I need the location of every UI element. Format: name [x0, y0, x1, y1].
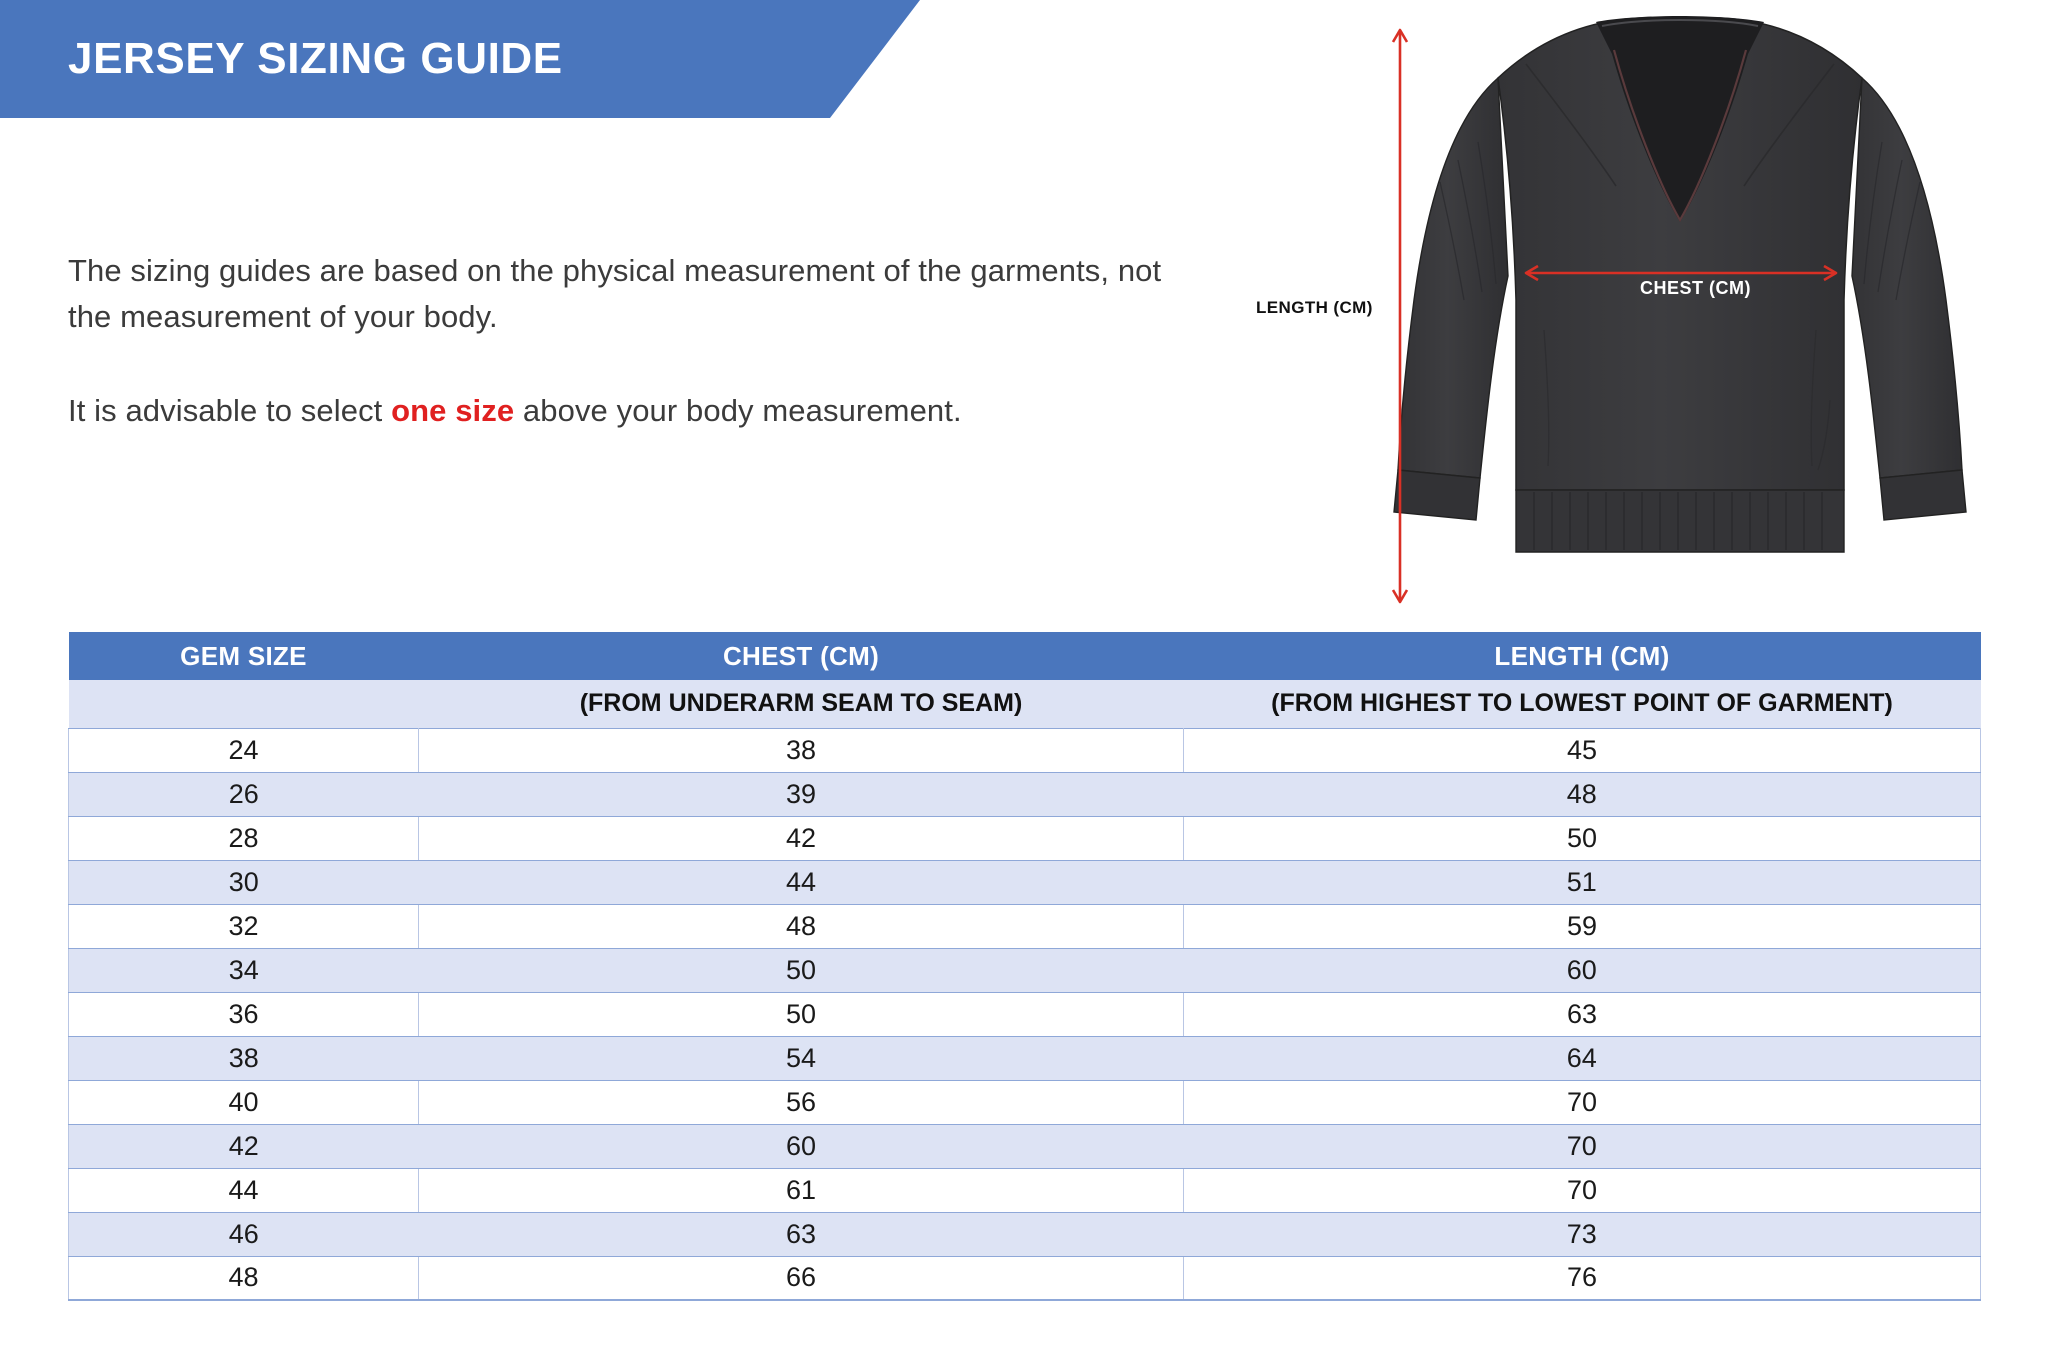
cell-chest: 50	[419, 992, 1184, 1036]
cell-chest: 50	[419, 948, 1184, 992]
cell-chest: 54	[419, 1036, 1184, 1080]
table-row: 34 50 60	[69, 948, 1981, 992]
cell-length: 73	[1184, 1212, 1981, 1256]
cell-size: 34	[69, 948, 419, 992]
page-title: JERSEY SIZING GUIDE	[68, 34, 563, 84]
table-row: 46 63 73	[69, 1212, 1981, 1256]
cell-size: 30	[69, 860, 419, 904]
column-header-gem-size: GEM SIZE	[69, 632, 419, 680]
table-body: (FROM UNDERARM SEAM TO SEAM) (FROM HIGHE…	[69, 680, 1981, 1300]
table-row: 24 38 45	[69, 728, 1981, 772]
cell-size: 26	[69, 772, 419, 816]
cell-length: 70	[1184, 1168, 1981, 1212]
intro-paragraph-2-after: above your body measurement.	[514, 393, 961, 428]
table-row: 42 60 70	[69, 1124, 1981, 1168]
intro-paragraph-2: It is advisable to select one size above…	[68, 388, 1208, 434]
cell-length: 63	[1184, 992, 1981, 1036]
table-row: 40 56 70	[69, 1080, 1981, 1124]
table-row: 36 50 63	[69, 992, 1981, 1036]
cell-length: 48	[1184, 772, 1981, 816]
cell-length: 70	[1184, 1080, 1981, 1124]
cell-size: 38	[69, 1036, 419, 1080]
cell-size: 44	[69, 1168, 419, 1212]
sweater-icon	[1330, 0, 2030, 620]
cell-size: 40	[69, 1080, 419, 1124]
cell-chest: 44	[419, 860, 1184, 904]
sizing-table: GEM SIZE CHEST (CM) LENGTH (CM) (FROM UN…	[68, 632, 1981, 1301]
table-row: 38 54 64	[69, 1036, 1981, 1080]
chest-measurement-label: CHEST (CM)	[1640, 278, 1751, 299]
cell-chest: 38	[419, 728, 1184, 772]
cell-size: 48	[69, 1256, 419, 1300]
header-banner: JERSEY SIZING GUIDE	[0, 0, 920, 118]
cell-size: 46	[69, 1212, 419, 1256]
table-row: 32 48 59	[69, 904, 1981, 948]
cell-length: 45	[1184, 728, 1981, 772]
cell-size: 36	[69, 992, 419, 1036]
table-row: 28 42 50	[69, 816, 1981, 860]
cell-length: 76	[1184, 1256, 1981, 1300]
cell-chest: 61	[419, 1168, 1184, 1212]
cell-chest: 42	[419, 816, 1184, 860]
cell-length: 64	[1184, 1036, 1981, 1080]
table-row: 44 61 70	[69, 1168, 1981, 1212]
cell-length: 50	[1184, 816, 1981, 860]
table-header-row: GEM SIZE CHEST (CM) LENGTH (CM)	[69, 632, 1981, 680]
cell-chest: 60	[419, 1124, 1184, 1168]
intro-text-block: The sizing guides are based on the physi…	[68, 248, 1208, 434]
length-measurement-label: LENGTH (CM)	[1256, 298, 1373, 318]
table-subheader-row: (FROM UNDERARM SEAM TO SEAM) (FROM HIGHE…	[69, 680, 1981, 728]
table-row: 26 39 48	[69, 772, 1981, 816]
one-size-highlight: one size	[391, 393, 514, 428]
cell-chest: 56	[419, 1080, 1184, 1124]
garment-illustration	[1330, 0, 2030, 620]
cell-size: 32	[69, 904, 419, 948]
subheader-chest: (FROM UNDERARM SEAM TO SEAM)	[419, 680, 1184, 728]
cell-chest: 66	[419, 1256, 1184, 1300]
length-arrow-icon	[1380, 16, 1420, 616]
table-row: 30 44 51	[69, 860, 1981, 904]
cell-length: 51	[1184, 860, 1981, 904]
intro-paragraph-2-before: It is advisable to select	[68, 393, 391, 428]
cell-length: 60	[1184, 948, 1981, 992]
cell-length: 70	[1184, 1124, 1981, 1168]
cell-chest: 39	[419, 772, 1184, 816]
subheader-gem-size	[69, 680, 419, 728]
cell-size: 42	[69, 1124, 419, 1168]
intro-paragraph-1: The sizing guides are based on the physi…	[68, 248, 1208, 340]
cell-chest: 48	[419, 904, 1184, 948]
sizing-guide-page: JERSEY SIZING GUIDE The sizing guides ar…	[0, 0, 2048, 1365]
cell-size: 24	[69, 728, 419, 772]
cell-size: 28	[69, 816, 419, 860]
cell-length: 59	[1184, 904, 1981, 948]
column-header-chest: CHEST (CM)	[419, 632, 1184, 680]
table-header: GEM SIZE CHEST (CM) LENGTH (CM)	[69, 632, 1981, 680]
table-row: 48 66 76	[69, 1256, 1981, 1300]
sizing-table-container: GEM SIZE CHEST (CM) LENGTH (CM) (FROM UN…	[68, 632, 1980, 1301]
cell-chest: 63	[419, 1212, 1184, 1256]
subheader-length: (FROM HIGHEST TO LOWEST POINT OF GARMENT…	[1184, 680, 1981, 728]
column-header-length: LENGTH (CM)	[1184, 632, 1981, 680]
